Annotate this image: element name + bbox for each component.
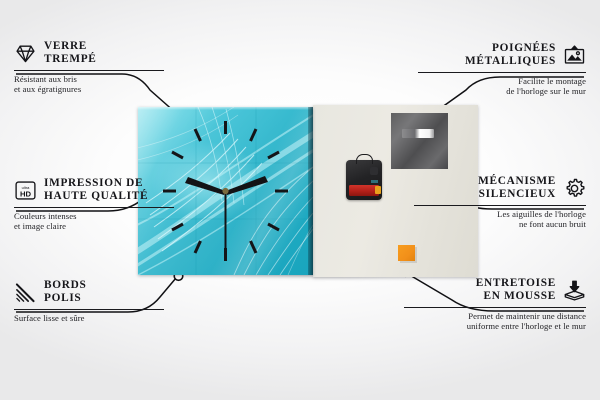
feature-verre-trempe: VERRE TREMPÉ Résistant aux bris et aux é… bbox=[14, 40, 164, 95]
feature-title: POIGNÉES MÉTALLIQUES bbox=[465, 42, 556, 69]
diamond-gem-icon bbox=[14, 42, 37, 65]
feature-description: Couleurs intenses et image claire bbox=[14, 211, 174, 232]
feature-impression-haute-qualite: ultra HD IMPRESSION DE HAUTE QUALITÉ Cou… bbox=[14, 177, 174, 232]
feature-description: Résistant aux bris et aux égratignures bbox=[14, 74, 164, 95]
foam-spacer bbox=[398, 245, 415, 261]
movement-label bbox=[371, 180, 378, 183]
minute-hand bbox=[226, 176, 269, 195]
picture-hanger-icon bbox=[563, 44, 586, 67]
feature-description: Facilite le montage de l'horloge sur le … bbox=[418, 76, 586, 97]
infographic-canvas: VERRE TREMPÉ Résistant aux bris et aux é… bbox=[0, 0, 600, 400]
feature-mecanisme-silencieux: MÉCANISME SILENCIEUX Les aiguilles de l'… bbox=[414, 175, 586, 230]
feature-divider bbox=[404, 307, 586, 308]
hands-cap bbox=[222, 188, 228, 194]
feature-divider bbox=[14, 309, 164, 310]
ultra-hd-icon: ultra HD bbox=[14, 179, 37, 202]
svg-text:HD: HD bbox=[20, 189, 32, 198]
feature-bords-polis: BORDS POLIS Surface lisse et sûre bbox=[14, 279, 164, 323]
feature-title: BORDS POLIS bbox=[44, 279, 86, 306]
foam-spacer-arrow-icon bbox=[563, 279, 586, 302]
clock-hands bbox=[185, 176, 268, 250]
feature-divider bbox=[14, 70, 164, 71]
feature-divider bbox=[418, 72, 586, 73]
feature-description: Permet de maintenir une distance uniform… bbox=[404, 311, 586, 332]
hanger-slot bbox=[402, 129, 434, 138]
movement-hook bbox=[356, 154, 373, 164]
feature-description: Les aiguilles de l'horloge ne font aucun… bbox=[414, 209, 586, 230]
feature-title: MÉCANISME SILENCIEUX bbox=[478, 175, 556, 202]
battery bbox=[349, 185, 379, 196]
feature-divider bbox=[414, 205, 586, 206]
quartz-movement bbox=[346, 160, 382, 200]
feature-title: IMPRESSION DE HAUTE QUALITÉ bbox=[44, 177, 148, 204]
feature-poignees-metalliques: POIGNÉES MÉTALLIQUES Facilite le montage… bbox=[418, 42, 586, 97]
polished-edge-lines-icon bbox=[14, 281, 37, 304]
movement-knob bbox=[370, 167, 378, 175]
feature-divider bbox=[14, 207, 174, 208]
hour-hand bbox=[185, 177, 226, 195]
feature-description: Surface lisse et sûre bbox=[14, 313, 164, 323]
gear-icon bbox=[563, 177, 586, 200]
feature-title: ENTRETOISE EN MOUSSE bbox=[476, 277, 556, 304]
feature-entretoise-en-mousse: ENTRETOISE EN MOUSSE Permet de maintenir… bbox=[404, 277, 586, 332]
battery-terminal bbox=[375, 186, 381, 194]
metal-hanger-bracket bbox=[391, 113, 448, 169]
feature-title: VERRE TREMPÉ bbox=[44, 40, 97, 67]
